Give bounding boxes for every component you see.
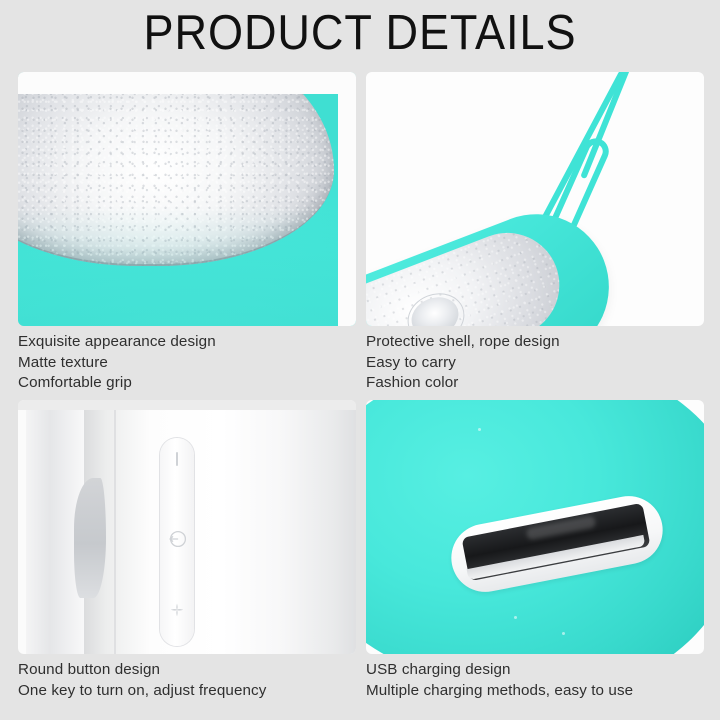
product-caption: Exquisite appearance design Matte textur… bbox=[18, 332, 356, 394]
product-photo-dome bbox=[18, 72, 356, 326]
cylinder-seam-line bbox=[114, 410, 116, 654]
caption-line: Easy to carry bbox=[366, 353, 704, 374]
product-card-protective-shell: Protective shell, rope design Easy to ca… bbox=[366, 72, 704, 394]
caption-line: Comfortable grip bbox=[18, 373, 356, 394]
teal-body-shading bbox=[18, 206, 356, 326]
caption-line: One key to turn on, adjust frequency bbox=[18, 681, 356, 702]
caption-line: USB charging design bbox=[366, 660, 704, 681]
product-caption: USB charging design Multiple charging me… bbox=[366, 660, 704, 701]
minus-icon bbox=[172, 452, 182, 466]
photo-right-border bbox=[338, 72, 356, 326]
cylinder-side-groove bbox=[74, 478, 106, 598]
product-photo-shell-rope bbox=[366, 72, 704, 326]
photo-top-border bbox=[18, 72, 356, 94]
product-photo-usb-port bbox=[366, 400, 704, 654]
product-card-exquisite-appearance: Exquisite appearance design Matte textur… bbox=[18, 72, 356, 394]
photo-top-band bbox=[18, 400, 356, 410]
plus-icon bbox=[166, 600, 188, 622]
product-caption: Protective shell, rope design Easy to ca… bbox=[366, 332, 704, 394]
product-caption: Round button design One key to turn on, … bbox=[18, 660, 356, 701]
surface-speck bbox=[514, 616, 517, 619]
caption-line: Matte texture bbox=[18, 353, 356, 374]
caption-line: Fashion color bbox=[366, 373, 704, 394]
product-card-usb-charging: USB charging design Multiple charging me… bbox=[366, 400, 704, 701]
caption-line: Exquisite appearance design bbox=[18, 332, 356, 353]
white-cylinder-body bbox=[78, 410, 356, 654]
surface-speck bbox=[562, 632, 565, 635]
page-title: PRODUCT DETAILS bbox=[29, 5, 691, 61]
product-details-page: PRODUCT DETAILS Exquisite appearance des… bbox=[0, 0, 720, 720]
caption-line: Round button design bbox=[18, 660, 356, 681]
power-icon bbox=[166, 528, 188, 550]
product-card-round-button: Round button design One key to turn on, … bbox=[18, 400, 356, 701]
surface-speck bbox=[478, 428, 481, 431]
product-photo-button-strip bbox=[18, 400, 356, 654]
caption-line: Multiple charging methods, easy to use bbox=[366, 681, 704, 702]
caption-line: Protective shell, rope design bbox=[366, 332, 704, 353]
